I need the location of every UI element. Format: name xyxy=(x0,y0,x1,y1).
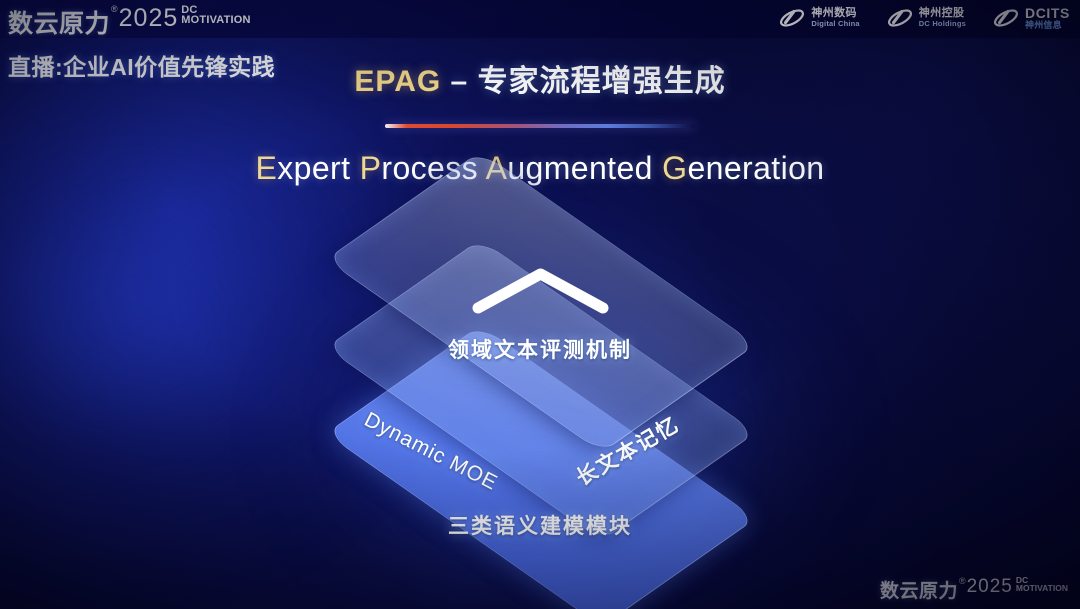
page-title: EPAG – 专家流程增强生成 xyxy=(0,56,1080,100)
brand-logo: 数云原力 ® 2025 DC MOTIVATION xyxy=(8,4,251,40)
swirl-icon xyxy=(992,6,1020,30)
slide-canvas: 数云原力 ® 2025 DC MOTIVATION 直播:企业AI价值先锋实践 … xyxy=(0,0,1080,609)
layered-stack-diagram: 领域文本评测机制 Dynamic MOE 长文本记忆 三类语义建模模块 xyxy=(295,222,785,572)
corporate-logo-text: 神州控股 DC Holdings xyxy=(919,8,966,28)
brand-watermark-motivation: MOTIVATION xyxy=(1016,585,1068,593)
corporate-logo-digital-china: 神州数码 Digital China xyxy=(778,6,859,30)
brand-watermark-registered-mark: ® xyxy=(959,576,966,586)
subtitle-word-generation: Generation xyxy=(662,150,824,186)
corporate-logo-cn: DCITS xyxy=(1025,6,1070,21)
corporate-logo-dc-holdings: 神州控股 DC Holdings xyxy=(886,6,966,30)
brand-logo-cn: 数云原力 xyxy=(8,4,110,40)
corporate-logo-group: 神州数码 Digital China 神州控股 DC Holdings DCIT… xyxy=(778,6,1070,31)
corporate-logo-en: Digital China xyxy=(811,20,859,28)
swirl-icon xyxy=(886,6,914,30)
corporate-logo-text: DCITS 神州信息 xyxy=(1025,6,1070,31)
corporate-logo-en: DC Holdings xyxy=(919,20,966,28)
brand-watermark-year: 2025 xyxy=(967,576,1013,598)
page-title-accent: EPAG xyxy=(354,65,441,98)
subtitle-word-expert: Expert xyxy=(255,150,350,186)
corporate-logo-text: 神州数码 Digital China xyxy=(811,8,859,28)
page-title-rest: – 专家流程增强生成 xyxy=(451,65,726,98)
brand-logo-year: 2025 xyxy=(119,4,179,33)
title-divider xyxy=(385,124,695,128)
corporate-logo-en: 神州信息 xyxy=(1025,21,1070,31)
brand-logo-registered-mark: ® xyxy=(111,4,118,14)
brand-watermark: 数云原力 ® 2025 DC MOTIVATION xyxy=(880,576,1068,603)
page-subtitle: Expert Process Augmented Generation xyxy=(0,150,1080,187)
brand-logo-dc-motivation: DC MOTIVATION xyxy=(181,5,250,25)
brand-watermark-dc-motivation: DC MOTIVATION xyxy=(1016,577,1068,593)
swirl-icon xyxy=(778,6,806,30)
brand-logo-motivation: MOTIVATION xyxy=(181,15,250,25)
brand-watermark-cn: 数云原力 xyxy=(880,576,958,603)
corporate-logo-dcits: DCITS 神州信息 xyxy=(992,6,1070,31)
